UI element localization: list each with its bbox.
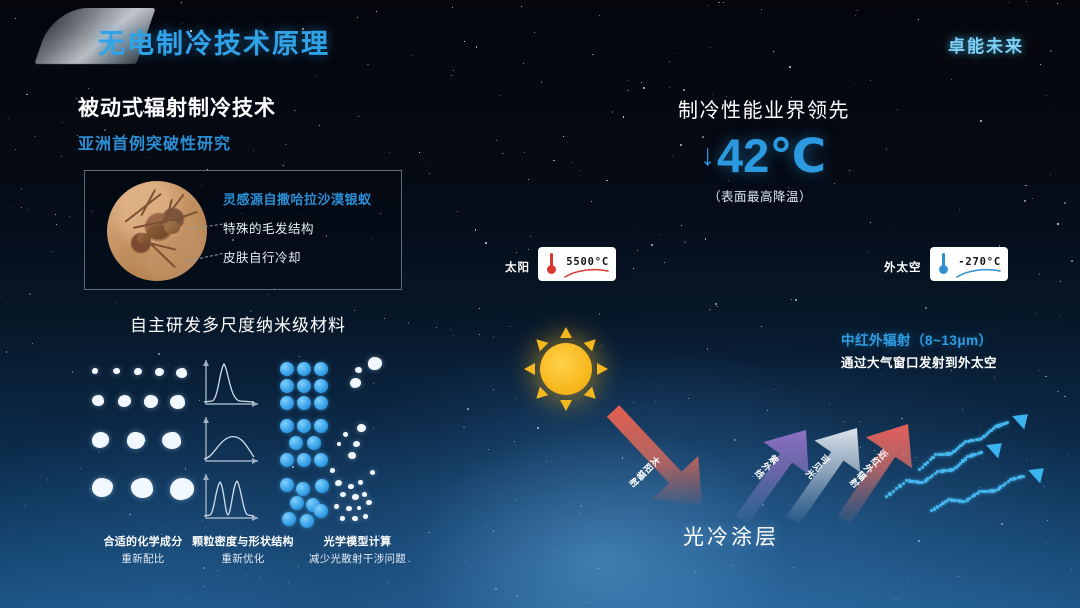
sun-core xyxy=(540,343,592,395)
material-caption-1: 颗粒密度与形状结构 重新优化 xyxy=(178,533,308,566)
arrow-label-visible: 可见光 xyxy=(802,452,832,482)
temperature-drop-value: 42℃ xyxy=(717,132,826,179)
sun-icon xyxy=(527,330,605,408)
material-caption-1-title: 颗粒密度与形状结构 xyxy=(178,533,308,549)
ant-inspiration-card: 灵感源自撒哈拉沙漠银蚁 特殊的毛发结构 皮肤自行冷却 xyxy=(84,170,402,290)
material-caption-2: 光学模型计算 减少光散射干涉问题 xyxy=(295,533,420,566)
thermometer-bulb-sun xyxy=(547,265,556,274)
brand-logo: 卓能未来 xyxy=(934,26,1038,63)
arrow-down-icon: ↓ xyxy=(700,141,715,171)
space-curve-icon xyxy=(956,267,1002,278)
sun-temperature-value: 5500°C xyxy=(566,256,609,268)
arrow-label-solar: 太阳辐射 xyxy=(626,453,663,490)
space-temperature-card: -270°C xyxy=(930,247,1008,281)
brand-logo-text: 卓能未来 xyxy=(948,32,1024,57)
material-section-title: 自主研发多尺度纳米级材料 xyxy=(130,311,346,336)
sun-label: 太阳 xyxy=(505,259,530,275)
arrow-near-infrared xyxy=(838,424,912,524)
arrow-label-uv: 紫外线 xyxy=(751,452,781,482)
material-caption-2-title: 光学模型计算 xyxy=(295,533,420,549)
temperature-drop-note: （表面最高降温） xyxy=(708,186,812,205)
ir-radiation-sub: 通过大气窗口发射到外太空 xyxy=(841,352,997,371)
ant-card-line-2: 皮肤自行冷却 xyxy=(223,247,301,266)
thermometer-bulb-space xyxy=(939,265,948,274)
ir-radiation-title: 中红外辐射（8~13μm） xyxy=(841,329,993,349)
silver-ant-photo xyxy=(107,181,207,281)
arrow-label-nir: 近红外辐射 xyxy=(846,447,891,492)
arrow-uv xyxy=(736,430,809,524)
performance-title: 制冷性能业界领先 xyxy=(678,94,850,123)
sun-temperature-card: 5500°C xyxy=(538,247,616,281)
ant-card-line-1: 特殊的毛发结构 xyxy=(223,218,314,237)
arrow-visible xyxy=(787,428,860,524)
temperature-drop-metric: ↓ 42℃ xyxy=(700,132,826,179)
material-caption-2-sub: 减少光散射干涉问题 xyxy=(295,551,420,566)
space-temperature-value: -270°C xyxy=(958,256,1001,268)
ant-card-title: 灵感源自撒哈拉沙漠银蚁 xyxy=(223,189,372,208)
left-heading: 被动式辐射制冷技术 xyxy=(78,92,276,122)
material-caption-1-sub: 重新优化 xyxy=(178,551,308,566)
space-label: 外太空 xyxy=(884,259,922,275)
sun-curve-icon xyxy=(564,267,610,278)
left-subheading: 亚洲首例突破性研究 xyxy=(78,130,231,154)
slide-canvas: 无电制冷技术原理 卓能未来 被动式辐射制冷技术 亚洲首例突破性研究 灵感源自撒哈… xyxy=(0,0,1080,608)
page-title: 无电制冷技术原理 xyxy=(98,22,330,61)
coating-label: 光冷涂层 xyxy=(683,521,779,551)
